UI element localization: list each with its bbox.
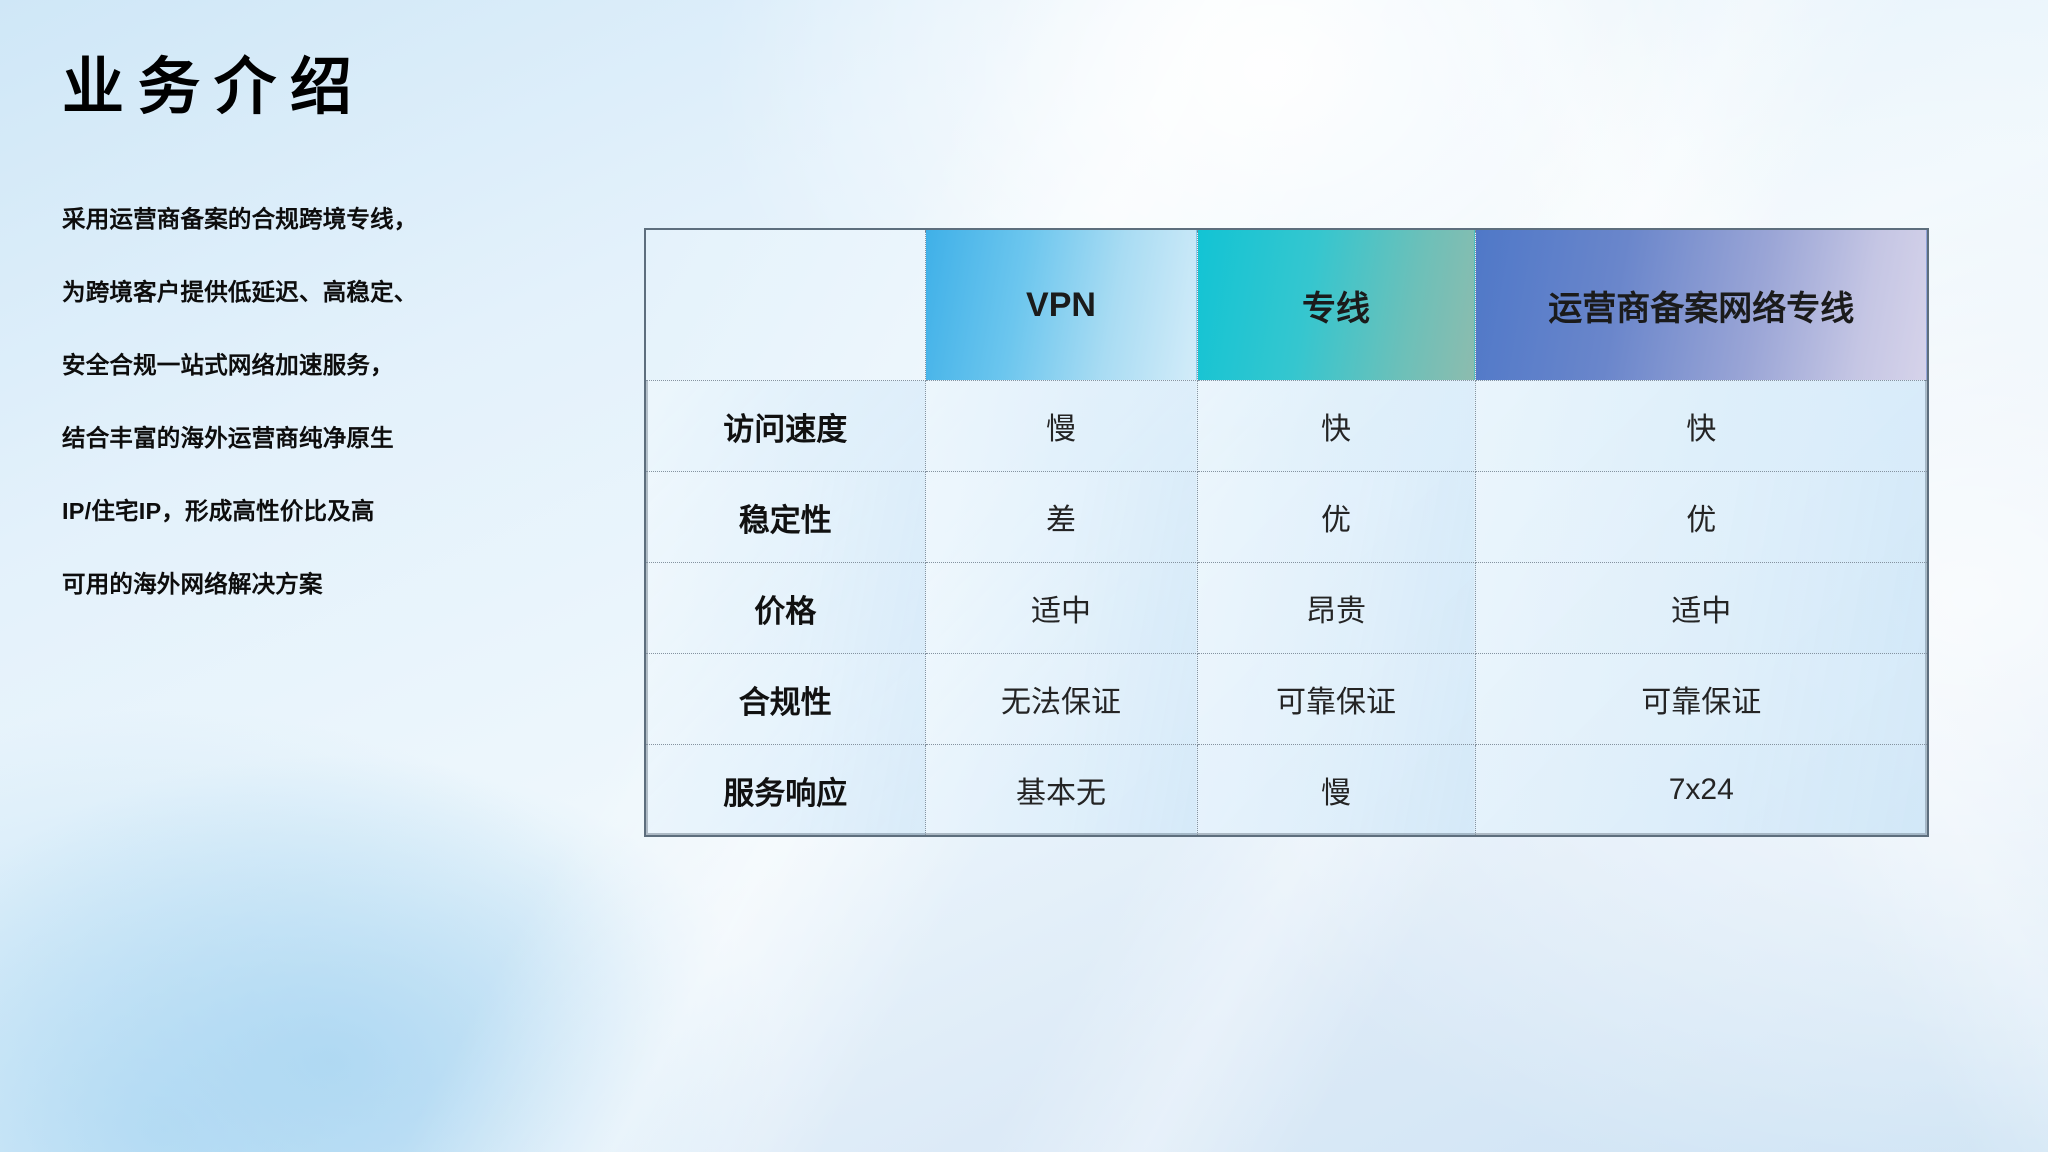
table-row: 价格 适中 昂贵 适中	[645, 563, 1928, 654]
row-label: 稳定性	[645, 472, 925, 563]
cell-carrier: 7x24	[1475, 745, 1928, 837]
row-label: 价格	[645, 563, 925, 654]
table-row: 合规性 无法保证 可靠保证 可靠保证	[645, 654, 1928, 745]
comparison-table-container: VPN 专线 运营商备案网络专线 访问速度 慢 快 快 稳定性 差 优 优	[644, 228, 1927, 837]
cell-carrier: 适中	[1475, 563, 1928, 654]
cell-vpn: 差	[925, 472, 1197, 563]
cell-carrier: 快	[1475, 381, 1928, 472]
cell-vpn: 无法保证	[925, 654, 1197, 745]
description-line: 可用的海外网络解决方案	[62, 548, 492, 621]
table-row: 稳定性 差 优 优	[645, 472, 1928, 563]
table-row: 服务响应 基本无 慢 7x24	[645, 745, 1928, 837]
cell-line: 优	[1197, 472, 1475, 563]
cell-vpn: 适中	[925, 563, 1197, 654]
description-line: 为跨境客户提供低延迟、高稳定、	[62, 256, 492, 329]
row-label: 合规性	[645, 654, 925, 745]
cell-vpn: 慢	[925, 381, 1197, 472]
description-line: 安全合规一站式网络加速服务，	[62, 329, 492, 402]
table-header: VPN 专线 运营商备案网络专线	[645, 229, 1928, 381]
table-body: 访问速度 慢 快 快 稳定性 差 优 优 价格 适中 昂贵 适中	[645, 381, 1928, 837]
description-block: 采用运营商备案的合规跨境专线， 为跨境客户提供低延迟、高稳定、 安全合规一站式网…	[62, 183, 492, 621]
column-header-vpn: VPN	[925, 229, 1197, 381]
description-line: IP/住宅IP，形成高性价比及高	[62, 475, 492, 548]
cell-line: 昂贵	[1197, 563, 1475, 654]
cell-line: 慢	[1197, 745, 1475, 837]
table-row: 访问速度 慢 快 快	[645, 381, 1928, 472]
cell-carrier: 可靠保证	[1475, 654, 1928, 745]
cell-vpn: 基本无	[925, 745, 1197, 837]
row-label: 访问速度	[645, 381, 925, 472]
row-label: 服务响应	[645, 745, 925, 837]
description-line: 采用运营商备案的合规跨境专线，	[62, 183, 492, 256]
slide-canvas: 业务介绍 采用运营商备案的合规跨境专线， 为跨境客户提供低延迟、高稳定、 安全合…	[0, 0, 2048, 1152]
comparison-table: VPN 专线 运营商备案网络专线 访问速度 慢 快 快 稳定性 差 优 优	[644, 228, 1929, 837]
table-header-row: VPN 专线 运营商备案网络专线	[645, 229, 1928, 381]
cell-carrier: 优	[1475, 472, 1928, 563]
column-header-line: 专线	[1197, 229, 1475, 381]
column-header-carrier: 运营商备案网络专线	[1475, 229, 1928, 381]
column-header-blank	[645, 229, 925, 381]
cell-line: 可靠保证	[1197, 654, 1475, 745]
description-line: 结合丰富的海外运营商纯净原生	[62, 402, 492, 475]
cell-line: 快	[1197, 381, 1475, 472]
page-title: 业务介绍	[62, 52, 366, 123]
